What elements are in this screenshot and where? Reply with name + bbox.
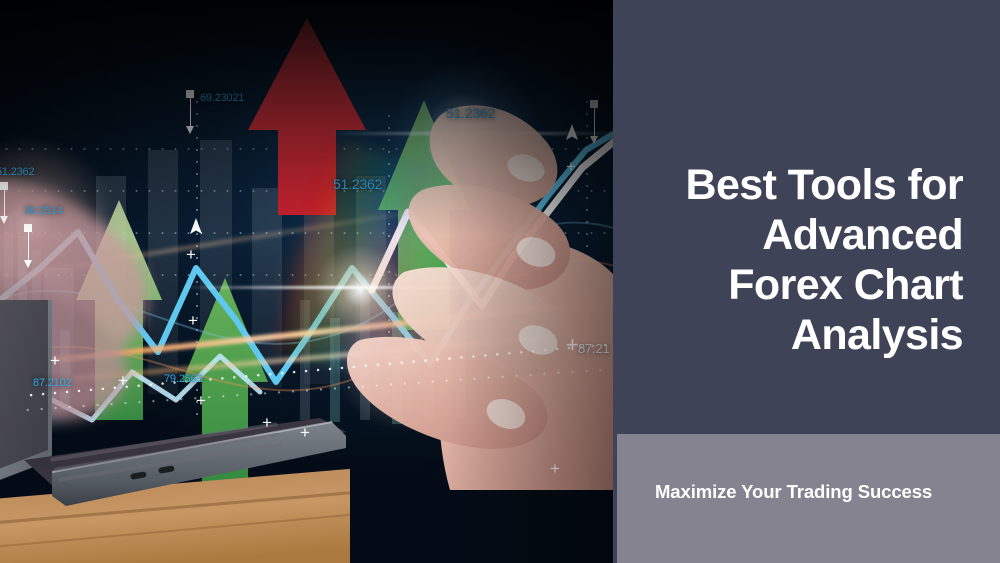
- page-title: Best Tools for Advanced Forex Chart Anal…: [633, 160, 963, 360]
- page-subtitle: Maximize Your Trading Success: [655, 481, 932, 503]
- hero-photo: + + + + + + + + + +: [0, 0, 620, 563]
- poster-canvas: + + + + + + + + + +: [0, 0, 1000, 563]
- right-vignette: [0, 0, 620, 563]
